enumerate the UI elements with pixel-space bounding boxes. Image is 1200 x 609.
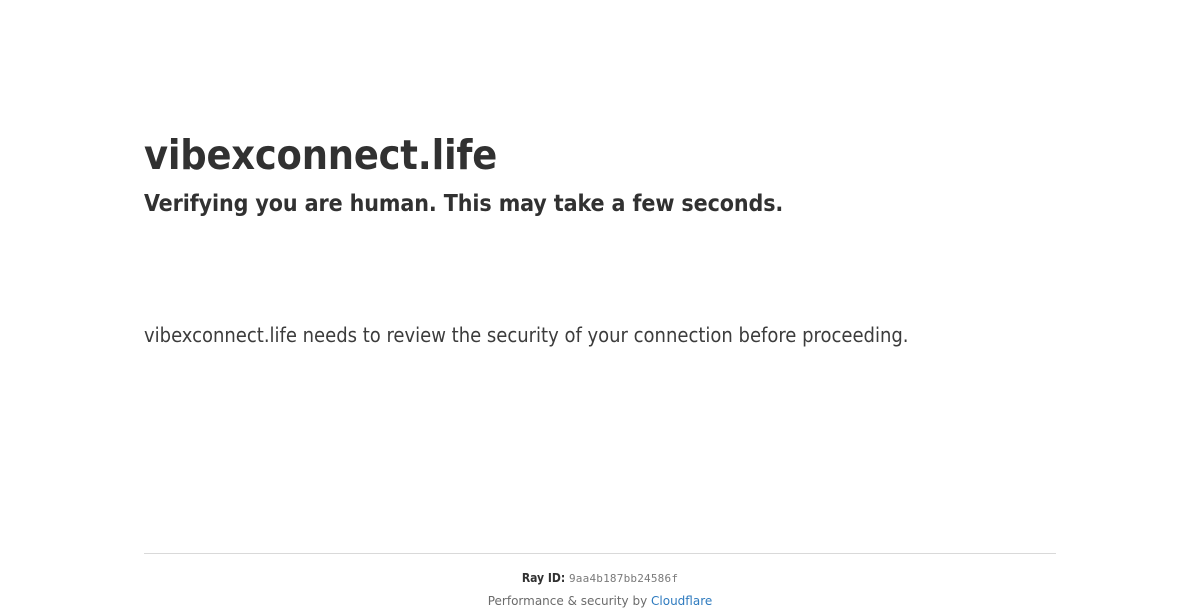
footer-credit: Performance & security by Cloudflare <box>144 586 1056 609</box>
challenge-header: vibexconnect.life Verifying you are huma… <box>144 0 1056 219</box>
challenge-page: vibexconnect.life Verifying you are huma… <box>0 0 1200 600</box>
cloudflare-link[interactable]: Cloudflare <box>651 594 712 608</box>
page-title: vibexconnect.life <box>144 131 1056 179</box>
footer: Ray ID: 9aa4b187bb24586f Performance & s… <box>144 553 1056 609</box>
challenge-subtitle: Verifying you are human. This may take a… <box>144 179 1056 219</box>
challenge-description: vibexconnect.life needs to review the se… <box>144 313 944 353</box>
challenge-content: vibexconnect.life Verifying you are huma… <box>144 0 1056 353</box>
footer-credit-text: Performance & security by <box>488 594 651 608</box>
footer-inner: Ray ID: 9aa4b187bb24586f Performance & s… <box>144 554 1056 609</box>
ray-id-value: 9aa4b187bb24586f <box>569 572 678 585</box>
challenge-widget-placeholder[interactable] <box>144 219 1056 313</box>
ray-id: Ray ID: 9aa4b187bb24586f <box>144 571 1056 586</box>
ray-id-label: Ray ID: <box>522 571 565 585</box>
